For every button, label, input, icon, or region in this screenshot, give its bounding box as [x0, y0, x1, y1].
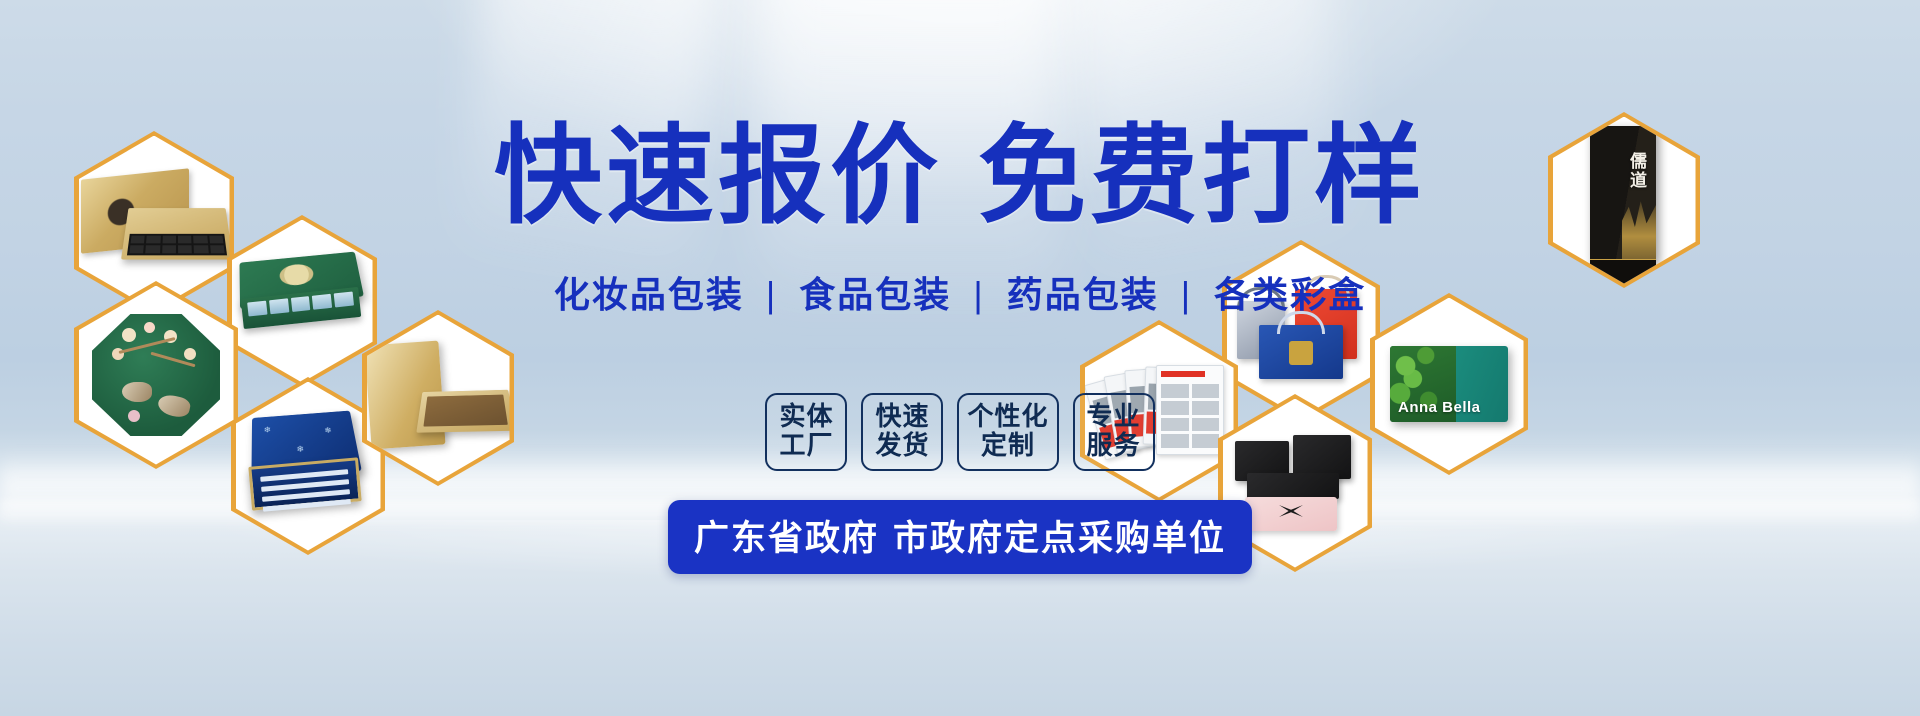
gov-badge-part-1: 广东省政府 [694, 519, 879, 558]
badge-line-2: 发货 [871, 431, 933, 460]
badge-line-1: 专业 [1086, 401, 1140, 431]
promo-banner: ❄ ❄ ❄ 儒道 [0, 0, 1920, 716]
subtitle-item-0: 化妆品包装 [554, 274, 744, 315]
feature-badge-fast-shipping[interactable]: 快速 发货 [861, 393, 943, 471]
subtitle-separator: | [756, 274, 787, 315]
black-box-open [1247, 473, 1339, 499]
subtitle-item-3: 各类彩盒 [1214, 274, 1366, 315]
subtitle-separator: | [963, 274, 994, 315]
subtitle-item-2: 药品包装 [1007, 274, 1159, 315]
government-procurement-badge[interactable]: 广东省政府市政府定点采购单位 [668, 500, 1252, 574]
flower-petal [122, 328, 136, 342]
feature-badge-factory[interactable]: 实体 工厂 [765, 393, 847, 471]
headline-part-2: 免费打样 [978, 115, 1426, 236]
badge-line-2: 服务 [1083, 431, 1145, 460]
flower-petal [184, 348, 196, 360]
blue-shopping-bag [1259, 325, 1343, 379]
badge-line-1: 实体 [779, 401, 833, 431]
badge-line-1: 个性化 [967, 401, 1048, 431]
feature-badge-professional-service[interactable]: 专业 服务 [1073, 393, 1155, 471]
tray-compartments [127, 234, 227, 256]
subtitle-separator: | [1171, 274, 1202, 315]
subtitle-item-1: 食品包装 [799, 274, 951, 315]
badge-line-2: 工厂 [775, 431, 837, 460]
badge-line-2: 定制 [967, 431, 1048, 460]
pink-cosmetic-box [1245, 497, 1337, 531]
headline-part-1: 快速报价 [494, 115, 942, 236]
flower-petal [144, 322, 155, 333]
gov-badge-part-2: 市政府定点采购单位 [893, 519, 1226, 558]
feature-badge-customization[interactable]: 个性化 定制 [957, 393, 1058, 471]
badge-line-1: 快速 [875, 401, 929, 431]
blue-box-inserts [260, 469, 351, 512]
bag-logo [1289, 341, 1313, 365]
feature-badge-list: 实体 工厂 快速 发货 个性化 定制 专业 服务 [0, 393, 1920, 471]
subtitle: 化妆品包装 | 食品包装 | 药品包装 | 各类彩盒 [0, 266, 1920, 318]
page-title: 快速报价免费打样 [0, 122, 1920, 230]
